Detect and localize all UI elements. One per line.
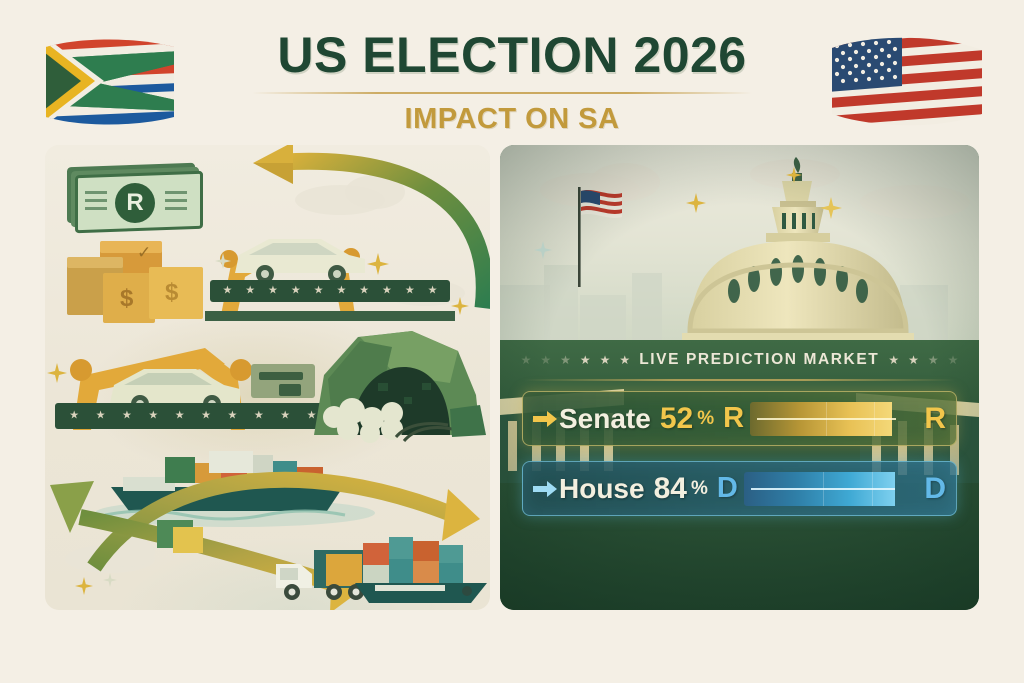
progress-tick — [826, 402, 827, 436]
infographic-canvas: US ELECTION 2026 IMPACT ON SA — [0, 0, 1024, 683]
dollar-symbol: $ — [165, 279, 178, 307]
market-header-divider — [524, 379, 955, 381]
small-container — [173, 527, 203, 553]
dollar-symbol: $ — [120, 285, 133, 313]
progress-tick — [872, 472, 873, 506]
star-icon: ★ — [521, 353, 532, 367]
star-icon: ★ — [908, 353, 919, 367]
banknote-line — [165, 207, 187, 210]
sparkle-icon — [367, 253, 389, 275]
currency-symbol: R — [126, 189, 143, 217]
sparkle-icon — [47, 363, 67, 383]
page-title: US ELECTION 2026 — [0, 30, 1024, 80]
banknote-line — [85, 207, 107, 210]
container-ship-lower — [355, 523, 490, 609]
mine-entrance-illustration — [300, 317, 490, 442]
star-icon: ★ — [580, 353, 591, 367]
house-label: House — [559, 473, 645, 505]
senate-party-end: R — [924, 402, 946, 436]
banknote-line — [85, 191, 107, 194]
market-header: ★ ★ ★ ★ ★ ★ LIVE PREDICTION MARKET ★ ★ ★… — [514, 345, 965, 375]
arrow-right-icon — [533, 481, 559, 497]
star-icon: ★ — [888, 353, 899, 367]
check-symbol: ✓ — [137, 243, 151, 263]
progress-tick — [823, 472, 824, 506]
banknote-line — [165, 199, 187, 202]
conveyor-belt-upper: ★★★★★★★★★★ — [210, 280, 450, 302]
star-icon: ★ — [600, 353, 611, 367]
conveyor-stars: ★★★★★★★★★★ — [210, 286, 450, 297]
sparkle-icon — [75, 577, 93, 595]
star-icon: ★ — [540, 353, 551, 367]
senate-label: Senate — [559, 403, 651, 435]
sparkle-icon — [786, 167, 802, 183]
market-header-label: LIVE PREDICTION MARKET — [639, 351, 879, 369]
star-icon: ★ — [619, 353, 630, 367]
progress-tick — [874, 402, 875, 436]
senate-progress-track[interactable] — [750, 402, 915, 436]
cargo-box-top — [100, 241, 162, 253]
sparkle-icon — [451, 297, 469, 315]
house-party: D — [717, 472, 738, 505]
arrow-right-icon — [533, 411, 559, 427]
star-icon: ★ — [928, 353, 939, 367]
sparkle-icon — [820, 197, 842, 219]
cargo-box-top — [67, 257, 123, 268]
star-icon: ★ — [948, 353, 959, 367]
senate-percent: 52 — [660, 402, 693, 436]
sparkle-icon — [686, 193, 706, 213]
percent-symbol: % — [691, 478, 708, 500]
live-prediction-market: ★ ★ ★ ★ ★ ★ LIVE PREDICTION MARKET ★ ★ ★… — [514, 345, 965, 595]
rand-symbol-badge: R — [115, 183, 155, 223]
car-upper — [225, 227, 375, 287]
sparkle-icon — [215, 253, 231, 269]
sparkle-icon — [534, 241, 552, 259]
house-progress-track[interactable] — [744, 472, 916, 506]
page-subtitle: IMPACT ON SA — [0, 103, 1024, 136]
prediction-market-panel: ★ ★ ★ ★ ★ ★ LIVE PREDICTION MARKET ★ ★ ★… — [500, 145, 979, 610]
percent-symbol: % — [697, 408, 714, 430]
banknote-line — [165, 191, 187, 194]
market-row-house[interactable]: House 84 % D D — [522, 461, 957, 516]
sparkle-icon — [103, 573, 117, 587]
sa-impact-panel: R $ $ ✓ — [45, 145, 490, 610]
star-icon: ★ — [560, 353, 571, 367]
banknote-line — [85, 199, 107, 202]
senate-party: R — [723, 402, 744, 435]
house-percent: 84 — [654, 472, 687, 506]
title-divider — [252, 92, 752, 94]
house-party-end: D — [924, 472, 946, 506]
market-row-senate[interactable]: Senate 52 % R R — [522, 391, 957, 446]
header: US ELECTION 2026 IMPACT ON SA — [0, 0, 1024, 145]
